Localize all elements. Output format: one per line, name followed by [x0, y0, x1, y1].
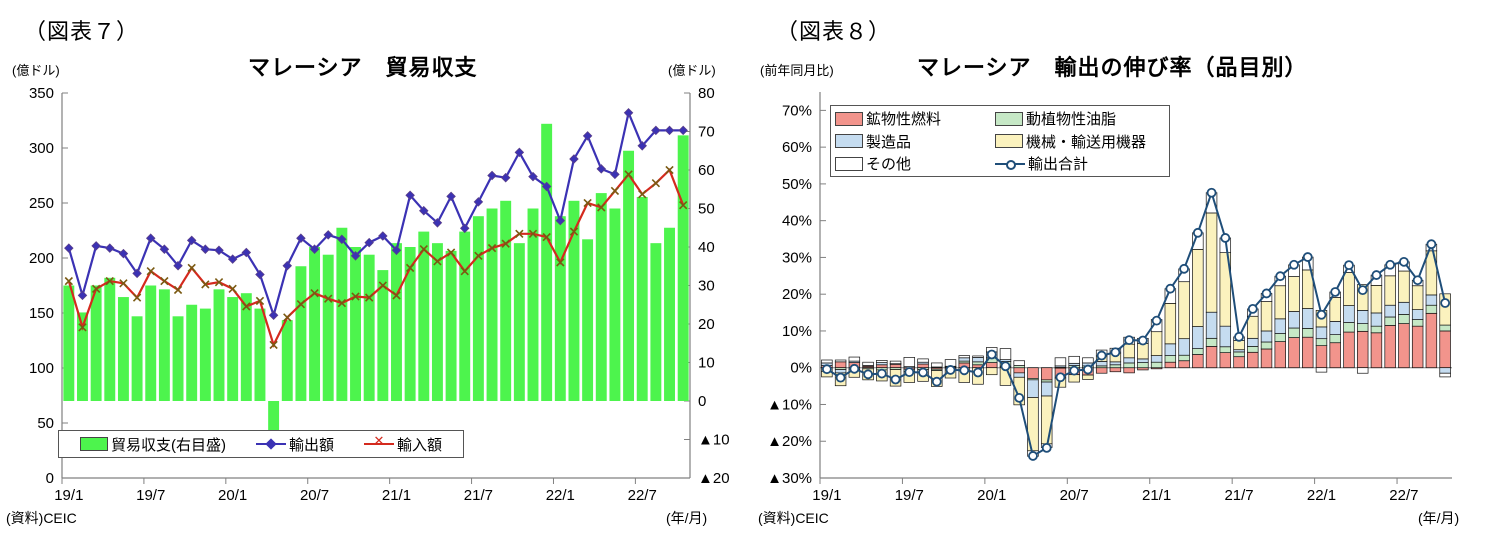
- bar: [514, 243, 525, 401]
- bar-segment: [1371, 313, 1382, 326]
- bar-segment: [1357, 368, 1368, 374]
- bar-segment: [1028, 368, 1039, 379]
- legend-swatch-manufactured-goods: [835, 134, 863, 148]
- bar-segment: [1124, 368, 1135, 373]
- bar-segment: [1302, 337, 1313, 368]
- bar-segment: [1041, 368, 1052, 380]
- bar-segment: [1041, 382, 1052, 396]
- bar-segment: [1316, 368, 1327, 372]
- bar-segment: [1399, 324, 1410, 368]
- bar-segment: [1206, 338, 1217, 346]
- bar-segment: [1316, 346, 1327, 368]
- bar-segment: [1261, 331, 1272, 342]
- y-tick-label: 40%: [782, 213, 812, 230]
- total-exports-marker: [1386, 261, 1394, 269]
- bar-segment: [1289, 338, 1300, 368]
- bar-segment: [1330, 343, 1341, 368]
- bar-segment: [1192, 349, 1203, 355]
- total-exports-marker: [1015, 394, 1023, 402]
- x-tick-label: 19/7: [895, 487, 924, 500]
- x-tick-label: 22/1: [546, 487, 575, 500]
- y-tick-label-right: 10: [698, 355, 715, 372]
- y-tick-label-right: ▲20: [698, 470, 730, 487]
- bar-segment: [1220, 353, 1231, 368]
- bar-segment: [1316, 339, 1327, 346]
- bar-segment: [1247, 346, 1258, 352]
- y-tick-label: ▲20%: [767, 433, 812, 450]
- bar-segment: [986, 363, 997, 368]
- bar: [528, 209, 539, 402]
- bar-segment: [1206, 312, 1217, 338]
- figure-8-source: (資料)CEIC: [758, 508, 829, 528]
- y-tick-label-right: 50: [698, 201, 715, 218]
- y-tick-label: 10%: [782, 323, 812, 340]
- total-exports-marker: [1070, 367, 1078, 375]
- figure-8-xaxis-unit: (年/月): [1418, 508, 1459, 528]
- total-exports-marker: [1427, 240, 1435, 248]
- bar: [623, 151, 634, 401]
- total-exports-marker: [988, 350, 996, 358]
- figure-7-panel: （図表７） (億ドル) マレーシア 貿易収支 (億ドル) (資料)CEIC (年…: [0, 0, 752, 560]
- bar: [200, 309, 211, 401]
- legend-swatch-mineral-fuels: [835, 112, 863, 126]
- bar-segment: [1289, 311, 1300, 328]
- legend-label-manufactured-goods: 製造品: [866, 131, 911, 152]
- bar-segment: [1399, 302, 1410, 314]
- bar: [459, 232, 470, 401]
- total-exports-marker: [919, 368, 927, 376]
- exports-marker: [597, 165, 605, 173]
- bar-segment: [1234, 341, 1245, 350]
- y-tick-label-right: 40: [698, 239, 715, 256]
- bar: [418, 232, 429, 401]
- exports-marker: [474, 198, 482, 206]
- y-tick-label-left: 300: [29, 140, 54, 157]
- total-exports-marker: [1414, 276, 1422, 284]
- total-exports-marker: [1043, 444, 1051, 452]
- bar-segment: [1412, 320, 1423, 327]
- total-exports-series: [823, 189, 1449, 460]
- bar-segment: [1179, 282, 1190, 339]
- y-tick-label-right: 20: [698, 316, 715, 333]
- legend-item-trade-balance: 貿易収支(右目盛): [80, 434, 226, 455]
- y-tick-label-right: ▲10: [698, 432, 730, 449]
- bar-segment: [1440, 325, 1451, 331]
- bar-segment: [1151, 332, 1162, 356]
- y-tick-label: 50%: [782, 176, 812, 193]
- bar-segment: [1069, 375, 1080, 382]
- legend-label-imports: 輸入額: [397, 434, 442, 455]
- bar: [596, 193, 607, 401]
- bar: [391, 243, 402, 401]
- total-exports-marker: [1235, 333, 1243, 341]
- total-exports-marker: [1166, 285, 1174, 293]
- y-tick-label-left: 0: [46, 470, 54, 487]
- x-tick-label: 19/1: [54, 487, 83, 500]
- bar-segment: [1412, 310, 1423, 320]
- legend-label-exports: 輸出額: [289, 434, 334, 455]
- bar-segment: [1440, 368, 1451, 374]
- bar: [500, 201, 511, 401]
- exports-marker: [78, 291, 86, 299]
- exports-marker: [65, 244, 73, 252]
- bar-segment: [973, 356, 984, 357]
- figure-7-source: (資料)CEIC: [6, 508, 77, 528]
- y-tick-label: 70%: [782, 102, 812, 119]
- legend-item-others: その他: [835, 153, 995, 174]
- x-tick-label: 22/7: [1389, 487, 1418, 500]
- imports-marker: [284, 314, 291, 321]
- bar-segment: [1124, 358, 1135, 363]
- bar: [282, 320, 293, 401]
- total-exports-marker: [1001, 362, 1009, 370]
- total-exports-marker: [1249, 305, 1257, 313]
- legend-item-animal-vegetable-oils: 動植物性油脂: [995, 108, 1116, 129]
- total-exports-marker: [1317, 311, 1325, 319]
- exports-series: [65, 109, 688, 320]
- bar-segment: [1138, 363, 1149, 368]
- bar-segment: [1371, 333, 1382, 368]
- legend-item-machinery-transport: 機械・輸送用機器: [995, 131, 1146, 152]
- bar-segment: [1096, 368, 1107, 374]
- bar-segment: [1096, 361, 1107, 365]
- bar-segment: [1385, 317, 1396, 325]
- bar-segment: [959, 358, 970, 361]
- bar-segment: [1344, 322, 1355, 332]
- exports-marker: [92, 242, 100, 250]
- x-tick-label: 21/1: [382, 487, 411, 500]
- total-exports-marker: [1331, 288, 1339, 296]
- bar: [173, 316, 184, 401]
- x-tick-label: 21/7: [464, 487, 493, 500]
- bar: [541, 124, 552, 401]
- total-exports-marker: [1029, 452, 1037, 460]
- legend-swatch-total-exports: [995, 158, 1025, 170]
- total-exports-marker: [1276, 272, 1284, 280]
- bar-segment: [1069, 356, 1080, 363]
- bar: [309, 247, 320, 401]
- bar-segment: [1192, 327, 1203, 349]
- bar-segment: [918, 359, 929, 362]
- legend-label-mineral-fuels: 鉱物性燃料: [866, 108, 941, 129]
- bar-segment: [1151, 362, 1162, 368]
- bar: [487, 209, 498, 402]
- y-tick-label: ▲30%: [767, 470, 812, 487]
- bar: [637, 197, 648, 401]
- legend-swatch-imports: ✕: [364, 438, 394, 450]
- bar-segment: [822, 360, 833, 363]
- exports-marker: [488, 171, 496, 179]
- bar: [446, 251, 457, 401]
- x-tick-label: 20/7: [300, 487, 329, 500]
- y-tick-label: 30%: [782, 249, 812, 266]
- bar-segment: [1261, 342, 1272, 349]
- bar-segment: [1289, 277, 1300, 312]
- bar-segment: [1412, 286, 1423, 310]
- imports-marker: [188, 264, 195, 271]
- total-exports-marker: [850, 365, 858, 373]
- bar-segment: [986, 368, 997, 375]
- bar-segment: [973, 357, 984, 361]
- bar: [350, 247, 361, 401]
- total-exports-marker: [1359, 286, 1367, 294]
- bar-segment: [1110, 365, 1121, 368]
- bar-segment: [863, 362, 874, 365]
- bar: [227, 297, 238, 401]
- y-tick-label-left: 50: [37, 415, 54, 432]
- total-exports-marker: [1139, 337, 1147, 345]
- total-exports-marker: [933, 378, 941, 386]
- stacked-bars: [822, 193, 1451, 457]
- bar-segment: [931, 363, 942, 367]
- x-tick-label: 22/1: [1307, 487, 1336, 500]
- bar-segment: [1138, 343, 1149, 358]
- total-exports-marker: [1372, 271, 1380, 279]
- bar-segment: [973, 362, 984, 365]
- y-tick-label-right: 30: [698, 278, 715, 295]
- total-exports-marker: [864, 370, 872, 378]
- bar: [364, 255, 375, 401]
- x-tick-label: 22/7: [628, 487, 657, 500]
- exports-marker: [501, 174, 509, 182]
- x-tick-label: 20/1: [218, 487, 247, 500]
- bar-segment: [1412, 326, 1423, 368]
- figure-7-legend: 貿易収支(右目盛) 輸出額 ✕ 輸入額: [58, 430, 464, 458]
- legend-item-exports: 輸出額: [256, 434, 334, 455]
- x-tick-label: 20/1: [977, 487, 1006, 500]
- bar-segment: [1344, 273, 1355, 306]
- bar-segment: [1371, 285, 1382, 313]
- y-tick-label-right: 70: [698, 124, 715, 141]
- exports-marker: [624, 109, 632, 117]
- total-exports-marker: [947, 366, 955, 374]
- bar: [582, 239, 593, 401]
- bar-segment: [1302, 328, 1313, 337]
- total-exports-marker: [960, 366, 968, 374]
- bar-segment: [1220, 347, 1231, 353]
- bar-segment: [1014, 373, 1025, 377]
- total-exports-marker: [1111, 348, 1119, 356]
- bar-segment: [1399, 271, 1410, 302]
- imports-marker: [639, 191, 646, 198]
- bar-segment: [1000, 349, 1011, 360]
- exports-marker: [447, 192, 455, 200]
- bar-segment: [1110, 368, 1121, 372]
- exports-marker: [269, 311, 277, 319]
- imports-marker: [161, 278, 168, 285]
- bar-segment: [1206, 346, 1217, 367]
- bar-segment: [1110, 362, 1121, 365]
- y-tick-label: 20%: [782, 286, 812, 303]
- legend-label-others: その他: [866, 153, 911, 174]
- bar-segment: [1247, 316, 1258, 338]
- y-tick-label-left: 100: [29, 360, 54, 377]
- bar-segment: [1124, 344, 1135, 358]
- bar-segment: [1151, 356, 1162, 363]
- bar: [664, 228, 675, 401]
- total-exports-marker: [905, 368, 913, 376]
- exports-marker: [461, 224, 469, 232]
- exports-marker: [665, 126, 673, 134]
- bar-segment: [1261, 302, 1272, 331]
- bar-segment: [1179, 361, 1190, 368]
- bar: [63, 286, 74, 402]
- bar-segment: [1357, 324, 1368, 332]
- bar-segment: [1440, 331, 1451, 368]
- x-tick-label: 19/7: [136, 487, 165, 500]
- total-exports-marker: [1263, 289, 1271, 297]
- bar-segment: [918, 364, 929, 368]
- x-tick-label: 21/7: [1224, 487, 1253, 500]
- bar-segment: [1124, 363, 1135, 368]
- bar: [473, 216, 484, 401]
- legend-item-manufactured-goods: 製造品: [835, 131, 995, 152]
- bar-segment: [1371, 326, 1382, 333]
- figure-7-chart: 050100150200250300350▲20▲100102030405060…: [0, 0, 752, 500]
- x-tick-label: 21/1: [1142, 487, 1171, 500]
- bar-segment: [1385, 325, 1396, 367]
- y-tick-label-right: 0: [698, 393, 706, 410]
- imports-marker: [147, 268, 154, 275]
- bar-segment: [1275, 334, 1286, 342]
- bar: [323, 255, 334, 401]
- bar-segment: [959, 356, 970, 358]
- bar-segment: [1192, 354, 1203, 367]
- legend-swatch-machinery-transport: [995, 134, 1023, 148]
- bar-segment: [890, 361, 901, 364]
- legend-item-imports: ✕ 輸入額: [364, 434, 442, 455]
- bar-segment: [1330, 335, 1341, 343]
- bar-segment: [904, 357, 915, 366]
- legend-label-animal-vegetable-oils: 動植物性油脂: [1026, 108, 1116, 129]
- bar-segment: [1165, 356, 1176, 363]
- bar-segment: [1234, 352, 1245, 357]
- bar-segment: [1014, 361, 1025, 366]
- bar-segment: [1165, 362, 1176, 368]
- total-exports-marker: [1208, 189, 1216, 197]
- bar-segment: [1055, 358, 1066, 366]
- panel-divider: [752, 0, 753, 560]
- y-tick-label-left: 250: [29, 195, 54, 212]
- bar-segment: [1289, 328, 1300, 338]
- bar-segment: [1179, 339, 1190, 356]
- total-exports-marker: [1304, 253, 1312, 261]
- bar-segment: [1165, 344, 1176, 356]
- total-exports-marker: [1290, 261, 1298, 269]
- figure-8-legend: 鉱物性燃料 動植物性油脂 製造品 機械・輸送用機器: [830, 105, 1170, 177]
- bar: [336, 228, 347, 401]
- legend-swatch-trade-balance: [80, 437, 108, 451]
- bar-segment: [1357, 310, 1368, 323]
- bar-segment: [1330, 321, 1341, 334]
- imports-marker: [174, 286, 181, 293]
- legend-swatch-animal-vegetable-oils: [995, 112, 1023, 126]
- imports-series: [65, 166, 687, 348]
- bar: [145, 286, 156, 402]
- legend-label-total-exports: 輸出合計: [1028, 153, 1088, 174]
- figures-page: （図表７） (億ドル) マレーシア 貿易収支 (億ドル) (資料)CEIC (年…: [0, 0, 1504, 560]
- imports-marker: [611, 187, 618, 194]
- bar-segment: [1330, 297, 1341, 321]
- bar-segment: [1344, 332, 1355, 368]
- imports-marker: [652, 180, 659, 187]
- total-exports-marker: [1345, 261, 1353, 269]
- bar-segment: [1028, 380, 1039, 398]
- bar: [254, 309, 265, 401]
- total-exports-marker: [974, 368, 982, 376]
- total-exports-marker: [1098, 352, 1106, 360]
- total-exports-marker: [1125, 336, 1133, 344]
- bar-segment: [1179, 355, 1190, 361]
- x-tick-label: 20/7: [1060, 487, 1089, 500]
- bar-segment: [1234, 357, 1245, 368]
- legend-label-machinery-transport: 機械・輸送用機器: [1026, 131, 1146, 152]
- figure-8-panel: （図表８） (前年同月比) マレーシア 輸出の伸び率（品目別） (資料)CEIC…: [752, 0, 1504, 560]
- bar-segment: [1440, 373, 1451, 377]
- bar-segment: [876, 360, 887, 362]
- total-exports-marker: [878, 370, 886, 378]
- exports-marker: [679, 126, 687, 134]
- figure-8-chart: ▲30%▲20%▲10%0%10%20%30%40%50%60%70%19/11…: [752, 0, 1504, 500]
- bar-segment: [1083, 375, 1094, 379]
- total-exports-marker: [1221, 234, 1229, 242]
- bar-segment: [1247, 352, 1258, 367]
- bar: [186, 305, 197, 401]
- exports-marker: [106, 244, 114, 252]
- bar-segment: [835, 360, 846, 362]
- bar-segment: [1165, 303, 1176, 343]
- bar-segment: [1041, 396, 1052, 444]
- bar-segment: [1275, 319, 1286, 334]
- bar-segment: [1385, 276, 1396, 305]
- bar-segment: [1357, 331, 1368, 367]
- y-tick-label-right: 80: [698, 85, 715, 102]
- legend-label-trade-balance: 貿易収支(右目盛): [111, 434, 226, 455]
- x-tick-label: 19/1: [812, 487, 841, 500]
- bar-segment: [1385, 305, 1396, 317]
- total-exports-marker: [823, 365, 831, 373]
- imports-marker: [133, 294, 140, 301]
- bar-segment: [1220, 326, 1231, 347]
- legend-swatch-exports: [256, 438, 286, 450]
- bar: [159, 289, 170, 401]
- bar-segment: [1275, 286, 1286, 319]
- bar-segment: [1083, 358, 1094, 363]
- bar-segment: [1426, 295, 1437, 305]
- y-tick-label-left: 200: [29, 250, 54, 267]
- y-tick-label-left: 350: [29, 85, 54, 102]
- bar-segment: [1206, 213, 1217, 312]
- trade-balance-bars: [63, 124, 688, 447]
- y-tick-label-right: 60: [698, 162, 715, 179]
- total-exports-marker: [1194, 229, 1202, 237]
- total-exports-marker: [1400, 258, 1408, 266]
- bar: [132, 316, 143, 401]
- bar: [609, 209, 620, 402]
- bar-segment: [835, 362, 846, 368]
- legend-item-mineral-fuels: 鉱物性燃料: [835, 108, 995, 129]
- bar: [214, 289, 225, 401]
- y-tick-label: ▲10%: [767, 396, 812, 413]
- total-exports-marker: [1180, 265, 1188, 273]
- bar-segment: [1426, 313, 1437, 367]
- bar-segment: [876, 365, 887, 368]
- bar-segment: [1014, 368, 1025, 373]
- legend-item-total-exports: 輸出合計: [995, 153, 1088, 174]
- bar-segment: [1247, 338, 1258, 346]
- exports-marker: [283, 262, 291, 270]
- exports-marker: [515, 148, 523, 156]
